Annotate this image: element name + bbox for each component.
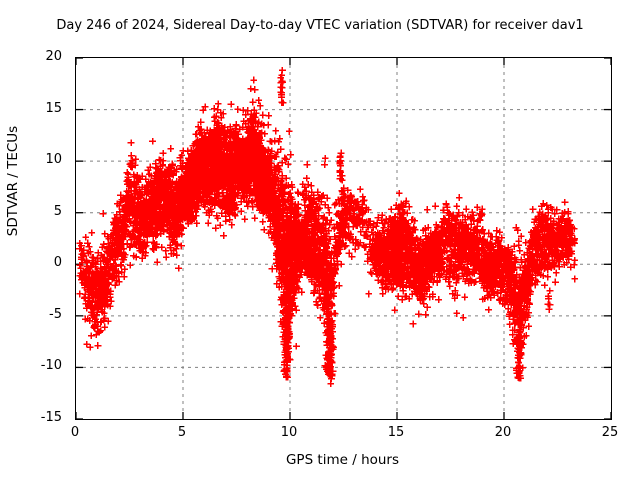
x-tick-label: 0: [45, 426, 105, 439]
x-tick-label: 25: [580, 426, 640, 439]
x-axis-label: GPS time / hours: [75, 452, 610, 468]
x-tick-label: 15: [366, 426, 426, 439]
x-tick-label: 10: [259, 426, 319, 439]
scatter-markers-plus: [76, 67, 578, 387]
chart-figure: Day 246 of 2024, Sidereal Day-to-day VTE…: [0, 0, 640, 480]
x-tick-label: 5: [152, 426, 212, 439]
scatter-plot-canvas: [76, 58, 611, 419]
plot-area: [75, 57, 612, 420]
data-series-sdtvar: [76, 67, 578, 387]
x-tick-label: 20: [473, 426, 533, 439]
